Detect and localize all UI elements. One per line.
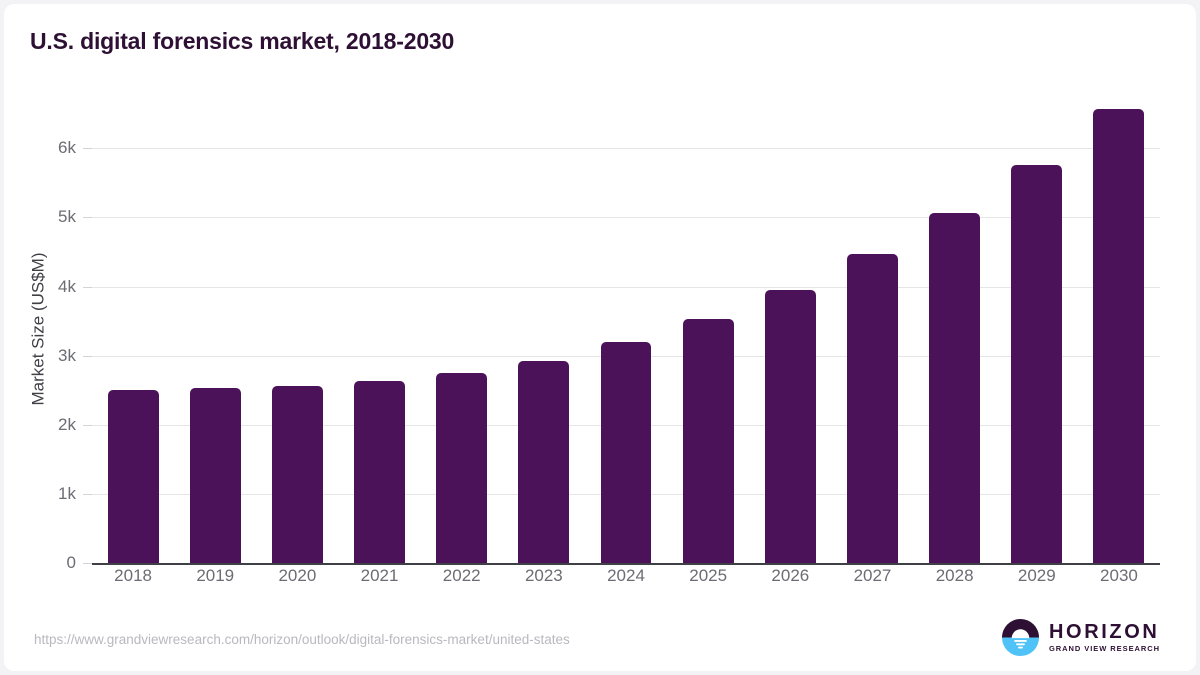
bar-slot bbox=[338, 94, 420, 564]
bar[interactable] bbox=[929, 213, 980, 564]
horizon-logo-icon bbox=[1001, 618, 1040, 657]
chart-card: U.S. digital forensics market, 2018-2030… bbox=[4, 4, 1196, 671]
y-tick-mark bbox=[83, 287, 92, 288]
y-tick-label: 6k bbox=[58, 138, 76, 158]
bar-slot bbox=[585, 94, 667, 564]
y-tick-label: 0 bbox=[67, 553, 76, 573]
y-tick-label: 4k bbox=[58, 277, 76, 297]
y-tick-label: 5k bbox=[58, 207, 76, 227]
x-tick-label: 2021 bbox=[338, 566, 420, 586]
bar[interactable] bbox=[272, 386, 323, 564]
x-axis-line bbox=[92, 563, 1160, 565]
y-tick-mark bbox=[83, 356, 92, 357]
plot-inner: 01k2k3k4k5k6k bbox=[92, 94, 1160, 564]
bar[interactable] bbox=[601, 342, 652, 564]
x-axis-labels: 2018201920202021202220232024202520262027… bbox=[92, 566, 1160, 586]
y-tick-label: 2k bbox=[58, 415, 76, 435]
y-axis-title: Market Size (US$M) bbox=[26, 94, 52, 564]
y-tick-mark bbox=[83, 148, 92, 149]
horizon-logo[interactable]: HORIZON GRAND VIEW RESEARCH bbox=[1001, 618, 1160, 657]
bar[interactable] bbox=[190, 388, 241, 564]
y-tick-label: 3k bbox=[58, 346, 76, 366]
horizon-logo-tagline: GRAND VIEW RESEARCH bbox=[1049, 645, 1160, 653]
x-tick-label: 2026 bbox=[749, 566, 831, 586]
bar-slot bbox=[92, 94, 174, 564]
bar[interactable] bbox=[683, 319, 734, 564]
bar-slot bbox=[749, 94, 831, 564]
bar[interactable] bbox=[1093, 109, 1144, 564]
y-tick-mark bbox=[83, 425, 92, 426]
x-tick-label: 2023 bbox=[503, 566, 585, 586]
plot-area: 01k2k3k4k5k6k bbox=[92, 94, 1160, 564]
bar-series bbox=[92, 94, 1160, 564]
bar-slot bbox=[996, 94, 1078, 564]
x-tick-label: 2022 bbox=[421, 566, 503, 586]
bar[interactable] bbox=[108, 390, 159, 564]
bar-slot bbox=[1078, 94, 1160, 564]
bar-slot bbox=[503, 94, 585, 564]
x-tick-label: 2025 bbox=[667, 566, 749, 586]
bar[interactable] bbox=[765, 290, 816, 564]
horizon-logo-name: HORIZON bbox=[1049, 622, 1160, 642]
x-tick-label: 2028 bbox=[914, 566, 996, 586]
bar-slot bbox=[256, 94, 338, 564]
bar[interactable] bbox=[354, 381, 405, 564]
x-tick-label: 2027 bbox=[831, 566, 913, 586]
x-tick-label: 2030 bbox=[1078, 566, 1160, 586]
bar-slot bbox=[667, 94, 749, 564]
x-tick-label: 2018 bbox=[92, 566, 174, 586]
x-tick-label: 2029 bbox=[996, 566, 1078, 586]
bar[interactable] bbox=[847, 254, 898, 564]
y-tick-mark bbox=[83, 563, 92, 564]
chart-title: U.S. digital forensics market, 2018-2030 bbox=[30, 28, 454, 55]
source-url[interactable]: https://www.grandviewresearch.com/horizo… bbox=[34, 632, 570, 647]
horizon-logo-text: HORIZON GRAND VIEW RESEARCH bbox=[1049, 622, 1160, 653]
x-tick-label: 2024 bbox=[585, 566, 667, 586]
bar-slot bbox=[174, 94, 256, 564]
x-tick-label: 2019 bbox=[174, 566, 256, 586]
bar-slot bbox=[831, 94, 913, 564]
bar-slot bbox=[914, 94, 996, 564]
screenshot-root: U.S. digital forensics market, 2018-2030… bbox=[0, 0, 1200, 675]
x-tick-label: 2020 bbox=[256, 566, 338, 586]
bar-slot bbox=[421, 94, 503, 564]
bar[interactable] bbox=[1011, 165, 1062, 565]
bar[interactable] bbox=[436, 373, 487, 564]
bar[interactable] bbox=[518, 361, 569, 564]
y-tick-mark bbox=[83, 494, 92, 495]
y-tick-mark bbox=[83, 217, 92, 218]
y-tick-label: 1k bbox=[58, 484, 76, 504]
y-axis-title-text: Market Size (US$M) bbox=[29, 252, 49, 405]
